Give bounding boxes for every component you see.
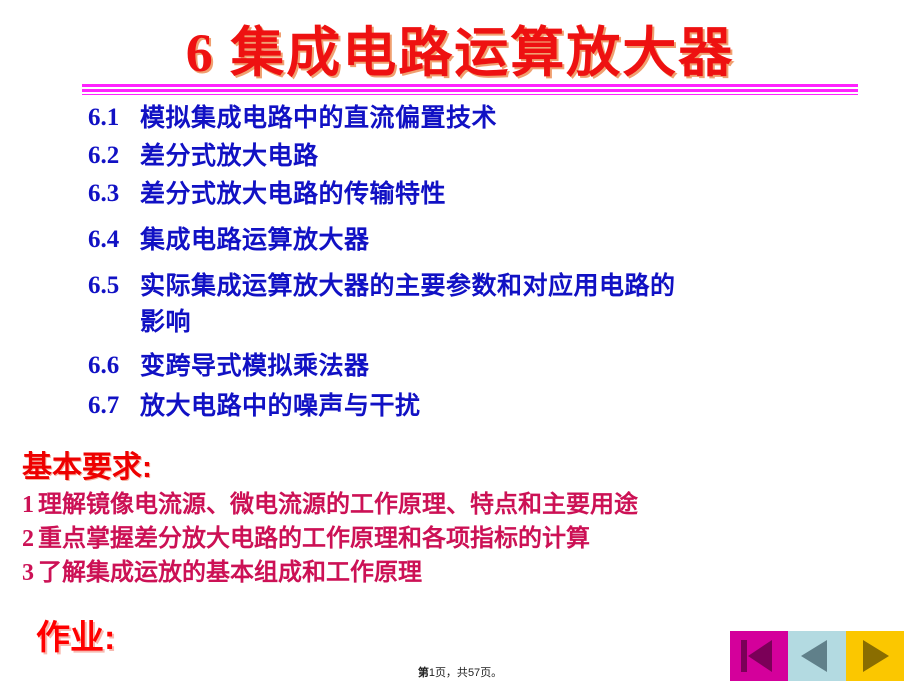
- section-label: 模拟集成电路中的直流偏置技术: [140, 100, 497, 136]
- requirement-number: 1: [22, 492, 34, 518]
- requirement-number: 3: [22, 560, 34, 586]
- section-label: 集成电路运算放大器: [140, 222, 370, 258]
- requirement-text: 了解集成运放的基本组成和工作原理: [38, 560, 422, 586]
- section-item-6-5[interactable]: 6.5 实际集成运算放大器的主要参数和对应用电路的影响: [88, 268, 808, 340]
- section-item-6-3[interactable]: 6.3 差分式放大电路的传输特性: [88, 176, 808, 212]
- section-label: 差分式放大电路的传输特性: [140, 176, 446, 212]
- requirements-block: 基本要求: 1理解镜像电流源、微电流源的工作原理、特点和主要用途 2重点掌握差分…: [22, 450, 882, 590]
- section-label: 实际集成运算放大器的主要参数和对应用电路的影响: [140, 268, 700, 340]
- section-item-6-7[interactable]: 6.7 放大电路中的噪声与干扰: [88, 388, 808, 424]
- section-number: 6.3: [88, 176, 140, 212]
- requirement-item-2: 2重点掌握差分放大电路的工作原理和各项指标的计算: [22, 522, 882, 556]
- footer-prefix: 第: [418, 667, 429, 679]
- title-divider: [82, 84, 858, 95]
- section-label: 变跨导式模拟乘法器: [140, 348, 370, 384]
- requirement-text: 重点掌握差分放大电路的工作原理和各项指标的计算: [38, 526, 590, 552]
- divider-line-bottom: [82, 94, 858, 95]
- requirement-item-3: 3了解集成运放的基本组成和工作原理: [22, 556, 882, 590]
- requirement-item-1: 1理解镜像电流源、微电流源的工作原理、特点和主要用途: [22, 488, 882, 522]
- divider-line-top: [82, 84, 858, 87]
- section-number: 6.7: [88, 388, 140, 424]
- section-item-6-1[interactable]: 6.1 模拟集成电路中的直流偏置技术: [88, 100, 808, 136]
- footer-suffix: 页。: [480, 667, 502, 679]
- requirement-text: 理解镜像电流源、微电流源的工作原理、特点和主要用途: [38, 492, 638, 518]
- section-number: 6.1: [88, 100, 140, 136]
- divider-line-middle: [82, 89, 858, 92]
- section-number: 6.6: [88, 348, 140, 384]
- section-number: 6.4: [88, 222, 140, 258]
- requirement-number: 2: [22, 526, 34, 552]
- section-number: 6.2: [88, 138, 140, 174]
- section-item-6-4[interactable]: 6.4 集成电路运算放大器: [88, 222, 808, 258]
- page-footer: 第1页，共57页。: [0, 664, 920, 680]
- section-list: 6.1 模拟集成电路中的直流偏置技术 6.2 差分式放大电路 6.3 差分式放大…: [88, 100, 808, 424]
- footer-total-pages: 57: [468, 667, 480, 679]
- section-number: 6.5: [88, 268, 140, 304]
- section-item-6-2[interactable]: 6.2 差分式放大电路: [88, 138, 808, 174]
- section-label: 差分式放大电路: [140, 138, 319, 174]
- requirements-heading: 基本要求:: [22, 450, 882, 486]
- section-label: 放大电路中的噪声与干扰: [140, 388, 421, 424]
- section-item-6-6[interactable]: 6.6 变跨导式模拟乘法器: [88, 348, 808, 384]
- page-title: 6 集成电路运算放大器: [0, 8, 920, 87]
- footer-middle: 页，共: [435, 667, 468, 679]
- homework-label: 作业:: [36, 618, 115, 658]
